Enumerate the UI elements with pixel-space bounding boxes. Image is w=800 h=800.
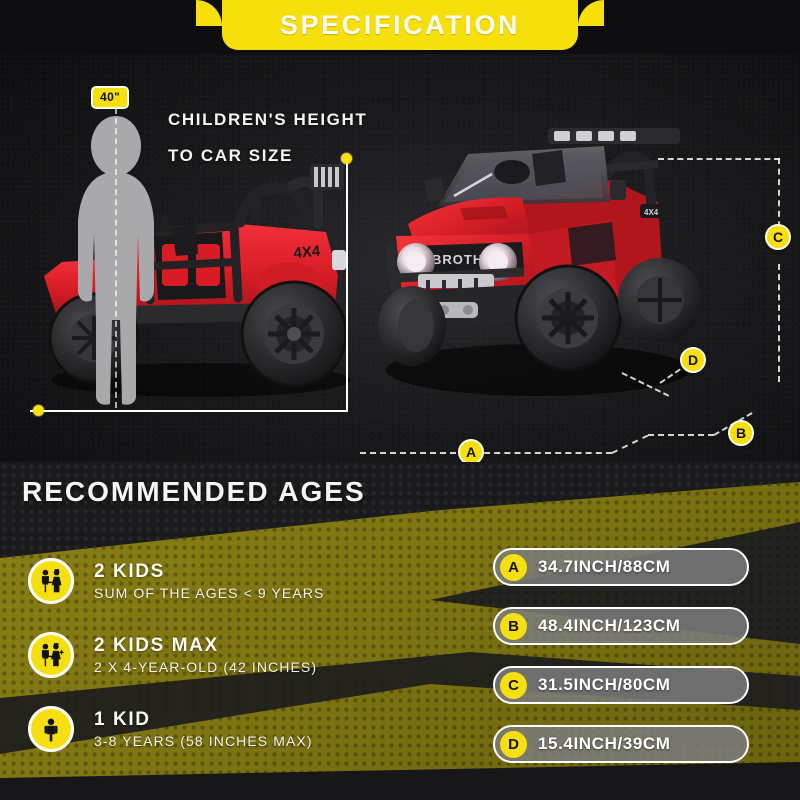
rear-wheel-right [618, 258, 702, 342]
age-text-block: 2 KIDS SUM OF THE AGES < 9 YEARS [94, 561, 324, 602]
measure-line-vertical [346, 158, 348, 412]
marker-d: D [680, 347, 706, 373]
front-wheel-left [378, 286, 446, 366]
specification-panel: SPECIFICATION [0, 0, 800, 462]
age-subtitle: SUM OF THE AGES < 9 YEARS [94, 585, 324, 601]
dash-a-left [360, 452, 456, 454]
dimension-badge-c: C [500, 672, 527, 699]
age-title: 1 KID [94, 709, 313, 731]
header-banner: SPECIFICATION [222, 0, 578, 50]
dash-b-left [648, 434, 714, 436]
dash-a-right [484, 452, 612, 454]
measure-line-horizontal [30, 410, 348, 412]
page-title: SPECIFICATION [280, 0, 520, 50]
ride-on-car-front-view: BROTHERS [372, 120, 712, 410]
dimension-badge-b: B [500, 613, 527, 640]
measure-dot-top [341, 153, 352, 164]
panel-heading: CHILDREN'S HEIGHT TO CAR SIZE [168, 110, 367, 182]
age-subtitle: 2 X 4-YEAR-OLD (42 INCHES) [94, 659, 317, 675]
front-side-badge: 4X4 [644, 208, 659, 217]
dimension-pill-a: A 34.7INCH/88CM [493, 548, 749, 586]
dimension-value-c: 31.5INCH/80CM [538, 675, 671, 695]
dimension-value-b: 48.4INCH/123CM [538, 616, 681, 636]
measure-dot-left [33, 405, 44, 416]
two-kids-icon [28, 558, 74, 604]
dimension-badge-a: A [500, 554, 527, 581]
section-title: RECOMMENDED AGES [22, 476, 366, 508]
one-kid-icon [28, 706, 74, 752]
heading-line-2: TO CAR SIZE [168, 146, 367, 166]
age-text-block: 1 KID 3-8 YEARS (58 INCHES MAX) [94, 709, 313, 750]
child-to-car-size-panel: 4X4 [18, 86, 368, 418]
age-row: 2 KIDS MAX 2 X 4-YEAR-OLD (42 INCHES) [20, 618, 440, 692]
marker-c: C [765, 224, 791, 250]
age-row: 1 KID 3-8 YEARS (58 INCHES MAX) [20, 692, 440, 766]
age-title: 2 KIDS MAX [94, 635, 317, 657]
header-banner-bar: SPECIFICATION [0, 0, 800, 54]
marker-b: B [728, 420, 754, 446]
wheel-rear [242, 282, 346, 386]
dimension-pill-d: D 15.4INCH/39CM [493, 725, 749, 763]
age-row: 2 KIDS SUM OF THE AGES < 9 YEARS [20, 544, 440, 618]
specification-infographic: SPECIFICATION [0, 0, 800, 800]
age-text-block: 2 KIDS MAX 2 X 4-YEAR-OLD (42 INCHES) [94, 635, 317, 676]
two-kids-max-icon [28, 632, 74, 678]
height-reference-line [115, 108, 117, 408]
front-wheel-right [516, 266, 620, 370]
dimension-badge-d: D [500, 731, 527, 758]
dimension-pill-c: C 31.5INCH/80CM [493, 666, 749, 704]
marker-a: A [458, 439, 484, 462]
age-title: 2 KIDS [94, 561, 324, 583]
dimension-value-d: 15.4INCH/39CM [538, 734, 671, 754]
age-subtitle: 3-8 YEARS (58 INCHES MAX) [94, 733, 313, 749]
side-decal-text: 4X4 [293, 243, 322, 262]
dimension-pill-b: B 48.4INCH/123CM [493, 607, 749, 645]
dimension-list: A 34.7INCH/88CM B 48.4INCH/123CM C 31.5I… [493, 548, 749, 784]
height-badge: 40" [91, 86, 129, 109]
dash-c-lower [778, 264, 780, 382]
heading-line-1: CHILDREN'S HEIGHT [168, 110, 367, 130]
recommended-ages-list: 2 KIDS SUM OF THE AGES < 9 YEARS [20, 544, 440, 766]
dash-a-diagonal [612, 435, 649, 454]
dimension-value-a: 34.7INCH/88CM [538, 557, 671, 577]
dash-c-top [658, 158, 780, 160]
